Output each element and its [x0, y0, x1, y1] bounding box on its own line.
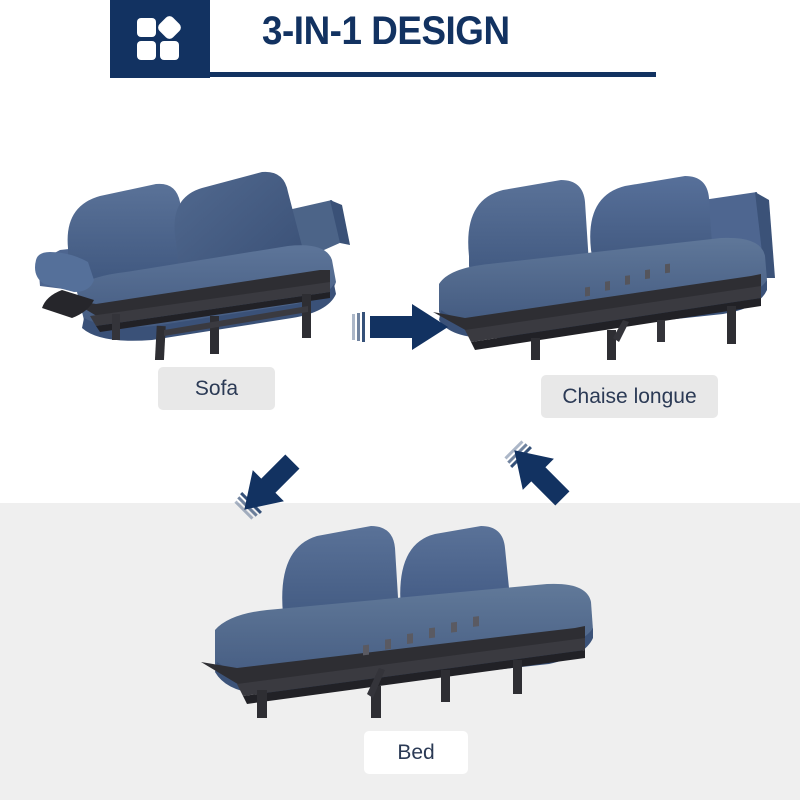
grid-square-top-left [137, 18, 156, 37]
label-chaise-longue: Chaise longue [541, 375, 718, 418]
product-image-bed [195, 518, 615, 718]
four-square-grid-icon [137, 17, 183, 61]
arrow-sofa-to-chaise [352, 302, 452, 359]
product-image-sofa [30, 150, 360, 360]
header-badge [110, 0, 210, 78]
header: 3-IN-1 DESIGN [0, 0, 800, 90]
grid-square-bottom-right [160, 41, 179, 60]
header-underline-rule [210, 72, 656, 77]
page-title: 3-IN-1 DESIGN [262, 9, 510, 54]
label-sofa: Sofa [158, 367, 275, 410]
grid-diamond-top-right [156, 14, 183, 41]
grid-square-bottom-left [137, 41, 156, 60]
product-image-chaise-longue [425, 160, 785, 360]
label-bed: Bed [364, 731, 468, 774]
arrow-bed-to-sofa [228, 432, 320, 533]
arrow-chaise-to-bed [498, 432, 590, 533]
